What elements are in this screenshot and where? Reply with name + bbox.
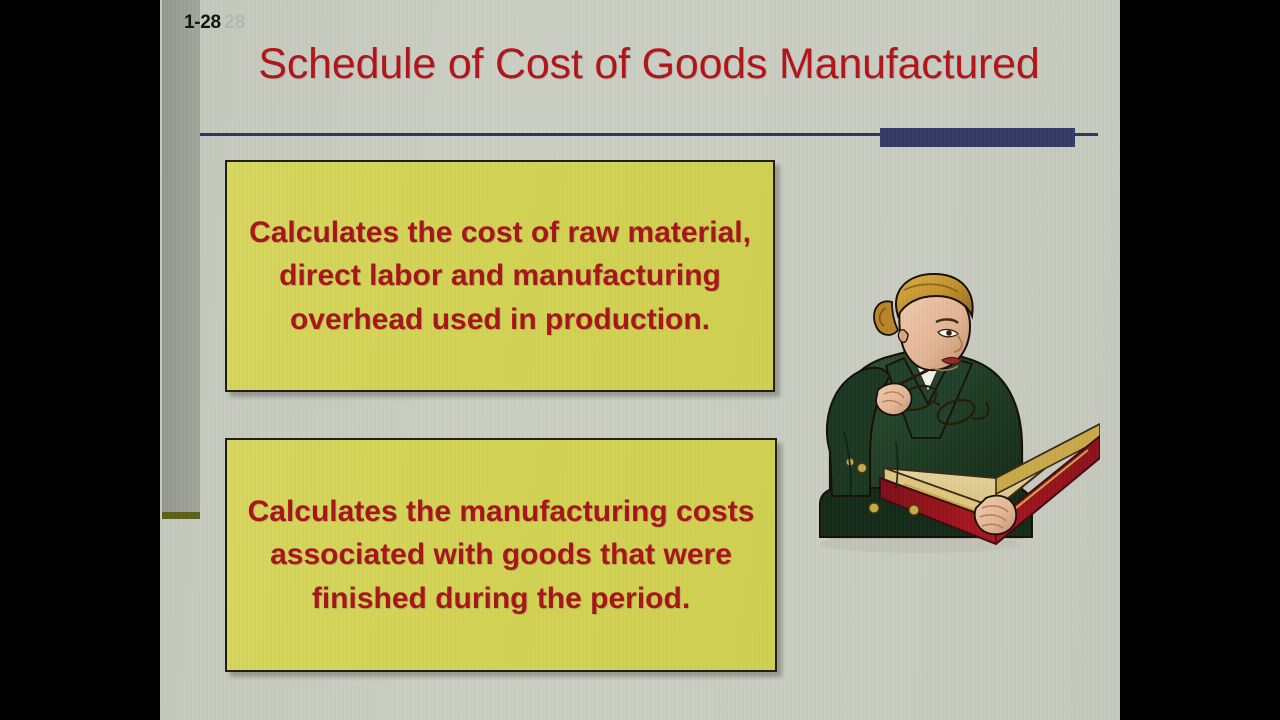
letterbox-bar-left xyxy=(0,0,160,720)
title-accent-tab xyxy=(880,128,1075,147)
callout-box-finished-goods: Calculates the manufacturing costs assoc… xyxy=(225,438,777,672)
presentation-slide: 28 1-28 Schedule of Cost of Goods Manufa… xyxy=(160,0,1120,720)
callout-text: Calculates the cost of raw material, dir… xyxy=(227,211,773,342)
callout-box-raw-material: Calculates the cost of raw material, dir… xyxy=(225,160,775,392)
letterbox-bar-right xyxy=(1120,0,1280,720)
woman-reading-book-illustration xyxy=(800,272,1100,557)
slide-number: 1-28 xyxy=(184,12,221,34)
page-title: Schedule of Cost of Goods Manufactured xyxy=(200,40,1098,89)
screenshot-stage: 28 1-28 Schedule of Cost of Goods Manufa… xyxy=(0,0,1280,720)
slide-number-ghost: 28 xyxy=(224,12,245,34)
slide-master-left-band xyxy=(162,0,200,512)
callout-text: Calculates the manufacturing costs assoc… xyxy=(227,490,775,621)
slide-master-left-band-rule xyxy=(162,512,200,519)
